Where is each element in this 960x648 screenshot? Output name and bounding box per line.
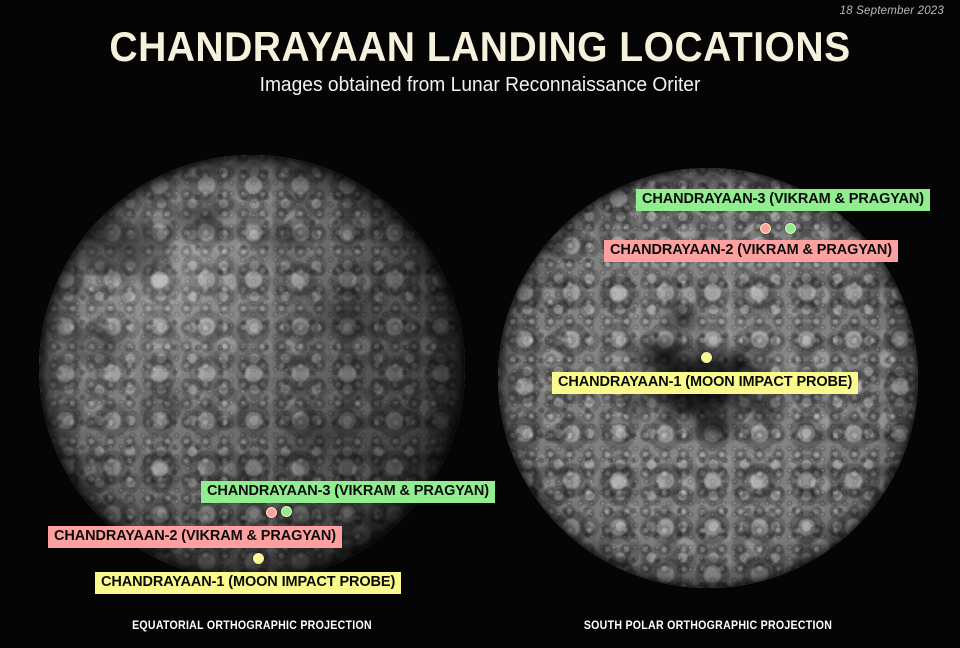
marker-chandrayaan-3-equatorial[interactable] [281,506,292,517]
label-chandrayaan-1-south-polar[interactable]: CHANDRAYAAN-1 (MOON IMPACT PROBE) [552,372,858,394]
label-chandrayaan-2-equatorial[interactable]: CHANDRAYAAN-2 (VIKRAM & PRAGYAN) [48,526,342,548]
page-title: CHANDRAYAAN LANDING LOCATIONS [34,26,927,68]
label-chandrayaan-1-equatorial[interactable]: CHANDRAYAAN-1 (MOON IMPACT PROBE) [95,572,401,594]
caption-south-polar-projection: SOUTH POLAR ORTHOGRAPHIC PROJECTION [524,620,892,632]
marker-chandrayaan-1-south-polar[interactable] [701,352,712,363]
caption-equatorial-projection: EQUATORIAL ORTHOGRAPHIC PROJECTION [68,620,436,632]
marker-chandrayaan-3-south-polar[interactable] [785,223,796,234]
marker-chandrayaan-2-equatorial[interactable] [266,507,277,518]
label-chandrayaan-2-south-polar[interactable]: CHANDRAYAAN-2 (VIKRAM & PRAGYAN) [604,240,898,262]
moon-limb-vignette [39,155,465,581]
label-chandrayaan-3-south-polar[interactable]: CHANDRAYAAN-3 (VIKRAM & PRAGYAN) [636,189,930,211]
moon-globe-equatorial [39,155,465,581]
date-stamp: 18 September 2023 [840,5,944,17]
marker-chandrayaan-2-south-polar[interactable] [760,223,771,234]
infographic-canvas: 18 September 2023 CHANDRAYAAN LANDING LO… [0,0,960,648]
marker-chandrayaan-1-equatorial[interactable] [253,553,264,564]
label-chandrayaan-3-equatorial[interactable]: CHANDRAYAAN-3 (VIKRAM & PRAGYAN) [201,481,495,503]
page-subtitle: Images obtained from Lunar Reconnaissanc… [19,74,941,96]
